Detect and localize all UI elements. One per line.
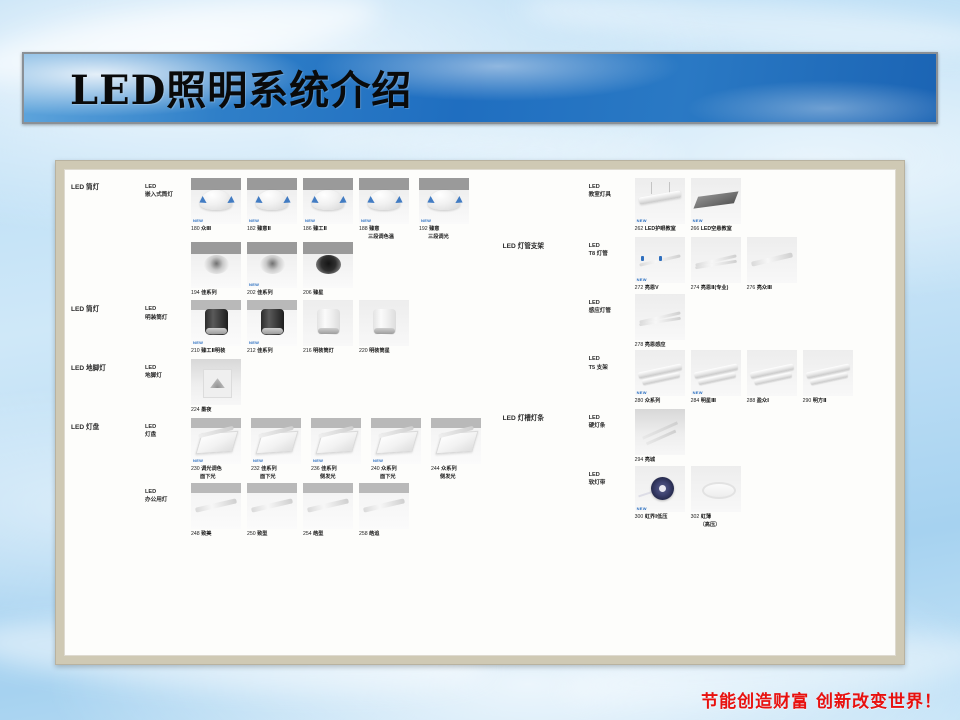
family-label-line1: LED — [589, 299, 635, 307]
product-code: 290 — [803, 398, 813, 404]
product-caption: 274 亮恩Ⅱ(专业) — [691, 285, 743, 293]
family-list: LED明装筒灯NEW210 臻工Ⅱ明装NEW212 佳系列216 明装筒灯220… — [145, 300, 493, 357]
product-caption: 202 佳系列 — [247, 290, 299, 298]
product-family: LED嵌入式筒灯NEW180 众ⅢNEW182 臻意ⅡNEW186 臻工ⅡNEW… — [145, 178, 493, 297]
new-badge: NEW — [637, 277, 647, 282]
family-list: LED灯盘NEW230 调光调色面下光NEW232 佳系列面下光NEW236 佳… — [145, 418, 493, 539]
product-name: 臻意 — [429, 226, 439, 232]
product-code: 212 — [247, 348, 257, 354]
product-item[interactable]: 248 致美 — [191, 483, 243, 539]
product-item[interactable]: NEW212 佳系列 — [247, 300, 299, 356]
product-item[interactable]: NEW192 臻意三段调光 — [419, 178, 475, 242]
product-caption: 278 亮恩感应 — [635, 342, 687, 350]
product-name: 明方Ⅱ — [813, 398, 827, 404]
product-thumbnail: NEW — [251, 418, 301, 464]
family-label-line1: LED — [145, 488, 191, 496]
product-caption: 272 亮恩V — [635, 285, 687, 293]
product-subname: （高压） — [691, 522, 747, 530]
new-badge: NEW — [637, 506, 647, 511]
product-name: 虹薄 — [701, 514, 711, 520]
product-caption: 248 致美 — [191, 531, 243, 539]
product-row: NEW262 LED护眼教室NEW266 LED空悬教室 — [635, 178, 747, 234]
family-label-line2: 软灯带 — [589, 479, 635, 487]
product-item[interactable]: NEW262 LED护眼教室 — [635, 178, 687, 234]
product-code: 232 — [251, 466, 261, 472]
product-thumbnail — [635, 409, 685, 455]
new-badge: NEW — [373, 458, 383, 463]
product-name: 墨夜 — [201, 407, 211, 413]
product-caption: 302 虹薄（高压） — [691, 514, 747, 530]
product-caption: 300 虹界Ⅰ低压 — [635, 514, 687, 522]
product-code: 182 — [247, 226, 257, 232]
group-title: LED 灯管支架 — [503, 237, 589, 252]
family-rows: NEW262 LED护眼教室NEW266 LED空悬教室 — [635, 178, 747, 234]
family-rows: NEW210 臻工Ⅱ明装NEW212 佳系列216 明装筒灯220 明装筒星 — [191, 300, 415, 356]
catalog-left-column: LED 筒灯LED嵌入式筒灯NEW180 众ⅢNEW182 臻意ⅡNEW186 … — [65, 170, 497, 655]
product-caption: 254 皓型 — [303, 531, 355, 539]
product-family: LED明装筒灯NEW210 臻工Ⅱ明装NEW212 佳系列216 明装筒灯220… — [145, 300, 493, 356]
family-label-line2: T8 灯管 — [589, 250, 635, 258]
product-code: 254 — [303, 531, 313, 537]
family-label: LEDT8 灯管 — [589, 237, 635, 258]
group-title: LED 地脚灯 — [71, 359, 145, 374]
product-item[interactable]: NEW236 佳系列侧发光 — [311, 418, 367, 482]
new-badge: NEW — [249, 218, 259, 223]
product-code: 180 — [191, 226, 201, 232]
family-list: LED教室灯具NEW262 LED护眼教室NEW266 LED空悬教室 — [589, 178, 891, 235]
product-thumbnail — [191, 359, 241, 405]
product-thumbnail: NEW — [247, 242, 297, 288]
product-thumbnail — [635, 294, 685, 340]
product-code: 194 — [191, 290, 201, 296]
product-name: 佳系列 — [257, 290, 273, 296]
product-caption: 240 众系列面下光 — [371, 466, 427, 482]
product-item[interactable]: NEW202 佳系列 — [247, 242, 299, 298]
product-name: 皓追 — [369, 531, 379, 537]
new-badge: NEW — [693, 390, 703, 395]
product-thumbnail: NEW — [691, 178, 741, 224]
product-name: 明星Ⅲ — [701, 398, 716, 404]
new-badge: NEW — [193, 458, 203, 463]
family-label-line2: 感应灯管 — [589, 307, 635, 315]
family-list: LED嵌入式筒灯NEW180 众ⅢNEW182 臻意ⅡNEW186 臻工ⅡNEW… — [145, 178, 493, 298]
family-label: LED明装筒灯 — [145, 300, 191, 321]
family-label-line2: 明装筒灯 — [145, 314, 191, 322]
family-label-line1: LED — [145, 305, 191, 313]
product-item[interactable]: NEW240 众系列面下光 — [371, 418, 427, 482]
family-rows: NEW272 亮恩V274 亮恩Ⅱ(专业)276 亮众Ⅲ — [635, 237, 803, 293]
family-label-line1: LED — [589, 355, 635, 363]
product-caption: 290 明方Ⅱ — [803, 398, 855, 406]
product-code: 258 — [359, 531, 369, 537]
product-thumbnail: NEW — [635, 178, 685, 224]
product-row: NEW230 调光调色面下光NEW232 佳系列面下光NEW236 佳系列侧发光… — [191, 418, 491, 482]
product-name: LED空悬教室 — [701, 226, 732, 232]
family-label-line2: 地脚灯 — [145, 372, 191, 380]
product-row: 278 亮恩感应 — [635, 294, 691, 350]
product-item[interactable]: 290 明方Ⅱ — [803, 350, 855, 406]
product-family: LED灯盘NEW230 调光调色面下光NEW232 佳系列面下光NEW236 佳… — [145, 418, 493, 482]
family-label-line1: LED — [589, 183, 635, 191]
product-thumbnail: NEW — [635, 350, 685, 396]
product-caption: 276 亮众Ⅲ — [747, 285, 799, 293]
product-caption: 280 众系列 — [635, 398, 687, 406]
family-label: LEDT5 支架 — [589, 350, 635, 371]
product-item[interactable]: NEW300 虹界Ⅰ低压 — [635, 466, 687, 530]
product-item[interactable]: 276 亮众Ⅲ — [747, 237, 799, 293]
product-group: LED 灯盘LED灯盘NEW230 调光调色面下光NEW232 佳系列面下光NE… — [71, 418, 493, 539]
product-thumbnail: NEW — [191, 178, 241, 224]
product-group: LED 地脚灯LED地脚灯224 墨夜 — [71, 359, 493, 416]
product-thumbnail: NEW — [691, 350, 741, 396]
family-label: LED办公用灯 — [145, 483, 191, 504]
catalog-columns: LED 筒灯LED嵌入式筒灯NEW180 众ⅢNEW182 臻意ⅡNEW186 … — [65, 170, 895, 655]
product-thumbnail: NEW — [247, 300, 297, 346]
product-code: 280 — [635, 398, 645, 404]
new-badge: NEW — [305, 218, 315, 223]
product-name: 致型 — [257, 531, 267, 537]
product-code: 230 — [191, 466, 201, 472]
product-thumbnail — [803, 350, 853, 396]
product-thumbnail — [747, 350, 797, 396]
product-name: 臻工Ⅱ明装 — [201, 348, 225, 354]
group-title: LED 灯盘 — [71, 418, 145, 433]
product-caption: 206 臻星 — [303, 290, 355, 298]
product-group: LED 灯槽灯条LED硬灯条294 亮城LED软灯带NEW300 虹界Ⅰ低压30… — [503, 409, 891, 530]
product-family: LED硬灯条294 亮城 — [589, 409, 891, 465]
family-label: LED感应灯管 — [589, 294, 635, 315]
product-item[interactable]: NEW232 佳系列面下光 — [251, 418, 307, 482]
product-subname: 三段调光 — [419, 234, 475, 242]
product-name: 众Ⅲ — [201, 226, 211, 232]
product-name: LED护眼教室 — [645, 226, 676, 232]
product-name: 虹界Ⅰ低压 — [645, 514, 668, 520]
family-label: LED教室灯具 — [589, 178, 635, 199]
product-item[interactable]: NEW186 臻工Ⅱ — [303, 178, 355, 242]
family-label-line2: 硬灯条 — [589, 422, 635, 430]
product-code: 248 — [191, 531, 201, 537]
family-rows: NEW230 调光调色面下光NEW232 佳系列面下光NEW236 佳系列侧发光… — [191, 418, 491, 482]
product-code: 244 — [431, 466, 441, 472]
product-thumbnail — [191, 483, 241, 529]
product-item[interactable]: NEW272 亮恩V — [635, 237, 687, 293]
product-name: 佳系列 — [201, 290, 217, 296]
family-rows: 278 亮恩感应 — [635, 294, 691, 350]
product-item[interactable]: 244 众系列侧发光 — [431, 418, 487, 482]
product-row: 224 墨夜 — [191, 359, 247, 415]
product-caption: 192 臻意三段调光 — [419, 226, 475, 242]
new-badge: NEW — [193, 340, 203, 345]
family-label-line1: LED — [589, 414, 635, 422]
product-subname: 面下光 — [371, 474, 427, 482]
product-caption: 258 皓追 — [359, 531, 411, 539]
product-thumbnail: NEW — [635, 237, 685, 283]
new-badge: NEW — [193, 218, 203, 223]
new-badge: NEW — [361, 218, 371, 223]
product-thumbnail: NEW — [311, 418, 361, 464]
product-item[interactable]: NEW280 众系列 — [635, 350, 687, 406]
product-code: 188 — [359, 226, 369, 232]
product-code: 216 — [303, 348, 313, 354]
family-label-line1: LED — [145, 364, 191, 372]
product-name: 明装筒星 — [369, 348, 390, 354]
product-thumbnail — [247, 483, 297, 529]
product-code: 294 — [635, 457, 645, 463]
family-label-line1: LED — [589, 242, 635, 250]
product-row: NEW280 众系列NEW284 明星Ⅲ288 盈众Ⅰ290 明方Ⅱ — [635, 350, 859, 406]
product-code: 220 — [359, 348, 369, 354]
product-code: 192 — [419, 226, 429, 232]
product-caption: 216 明装筒灯 — [303, 348, 355, 356]
product-item[interactable]: 254 皓型 — [303, 483, 355, 539]
product-code: 250 — [247, 531, 257, 537]
product-name: 亮恩Ⅱ(专业) — [701, 285, 729, 291]
product-subname: 面下光 — [251, 474, 307, 482]
product-code: 266 — [691, 226, 701, 232]
product-group: LED教室灯具NEW262 LED护眼教室NEW266 LED空悬教室 — [503, 178, 891, 235]
family-rows: 294 亮城 — [635, 409, 691, 465]
product-caption: 210 臻工Ⅱ明装 — [191, 348, 243, 356]
family-label-line2: 嵌入式筒灯 — [145, 191, 191, 199]
product-item[interactable]: NEW210 臻工Ⅱ明装 — [191, 300, 243, 356]
product-thumbnail — [303, 242, 353, 288]
product-item[interactable]: 294 亮城 — [635, 409, 687, 465]
product-group: LED 灯管支架LEDT8 灯管NEW272 亮恩V274 亮恩Ⅱ(专业)276… — [503, 237, 891, 407]
family-rows: NEW300 虹界Ⅰ低压302 虹薄（高压） — [635, 466, 751, 530]
product-name: 佳系列 — [321, 466, 337, 472]
product-caption: 262 LED护眼教室 — [635, 226, 687, 234]
family-label-line1: LED — [145, 183, 191, 191]
product-name: 亮恩感应 — [645, 342, 666, 348]
product-code: 272 — [635, 285, 645, 291]
family-label-line2: 办公用灯 — [145, 496, 191, 504]
product-name: 众系列 — [645, 398, 661, 404]
product-name: 亮恩V — [645, 285, 659, 291]
title-banner: LED照明系统介绍 — [22, 52, 938, 124]
product-code: 240 — [371, 466, 381, 472]
product-caption: 244 众系列侧发光 — [431, 466, 487, 482]
product-caption: 236 佳系列侧发光 — [311, 466, 367, 482]
product-name: 亮众Ⅲ — [757, 285, 772, 291]
family-rows: NEW280 众系列NEW284 明星Ⅲ288 盈众Ⅰ290 明方Ⅱ — [635, 350, 859, 406]
new-badge: NEW — [253, 458, 263, 463]
product-row: 194 佳系列NEW202 佳系列206 臻星 — [191, 242, 479, 298]
slogan-text: 节能创造财富 创新改变世界！ — [701, 687, 942, 712]
product-name: 臻星 — [313, 290, 323, 296]
product-subname: 面下光 — [191, 474, 247, 482]
product-item[interactable]: 206 臻星 — [303, 242, 355, 298]
product-caption: 180 众Ⅲ — [191, 226, 243, 234]
product-code: 300 — [635, 514, 645, 520]
page-title: LED照明系统介绍 — [70, 58, 412, 116]
product-row: NEW300 虹界Ⅰ低压302 虹薄（高压） — [635, 466, 751, 530]
product-caption: 250 致型 — [247, 531, 299, 539]
product-code: 288 — [747, 398, 757, 404]
family-label: LED软灯带 — [589, 466, 635, 487]
group-title: LED 灯槽灯条 — [503, 409, 589, 424]
group-title: LED 筒灯 — [71, 178, 145, 193]
new-badge: NEW — [313, 458, 323, 463]
product-family: LEDT8 灯管NEW272 亮恩V274 亮恩Ⅱ(专业)276 亮众Ⅲ — [589, 237, 891, 293]
family-rows: 224 墨夜 — [191, 359, 247, 415]
product-row: NEW272 亮恩V274 亮恩Ⅱ(专业)276 亮众Ⅲ — [635, 237, 803, 293]
product-name: 明装筒灯 — [313, 348, 334, 354]
product-name: 亮城 — [645, 457, 655, 463]
product-name: 众系列 — [441, 466, 457, 472]
product-family: LEDT5 支架NEW280 众系列NEW284 明星Ⅲ288 盈众Ⅰ290 明… — [589, 350, 891, 406]
product-row: NEW210 臻工Ⅱ明装NEW212 佳系列216 明装筒灯220 明装筒星 — [191, 300, 415, 356]
product-thumbnail — [303, 300, 353, 346]
product-family: LED办公用灯248 致美250 致型254 皓型258 皓追 — [145, 483, 493, 539]
product-thumbnail: NEW — [419, 178, 469, 224]
product-family: LED教室灯具NEW262 LED护眼教室NEW266 LED空悬教室 — [589, 178, 891, 234]
product-item[interactable]: 216 明装筒灯 — [303, 300, 355, 356]
product-name: 臻意Ⅱ — [257, 226, 271, 232]
product-subname: 三段调色温 — [359, 234, 415, 242]
family-rows: 248 致美250 致型254 皓型258 皓追 — [191, 483, 415, 539]
product-item[interactable]: 194 佳系列 — [191, 242, 243, 298]
product-code: 302 — [691, 514, 701, 520]
family-list: LED地脚灯224 墨夜 — [145, 359, 493, 416]
group-title — [503, 178, 589, 184]
product-family: LED软灯带NEW300 虹界Ⅰ低压302 虹薄（高压） — [589, 466, 891, 530]
product-thumbnail — [359, 300, 409, 346]
product-thumbnail: NEW — [635, 466, 685, 512]
new-badge: NEW — [637, 218, 647, 223]
product-thumbnail: NEW — [191, 418, 241, 464]
product-item[interactable]: NEW182 臻意Ⅱ — [247, 178, 299, 242]
product-group: LED 筒灯LED嵌入式筒灯NEW180 众ⅢNEW182 臻意ⅡNEW186 … — [71, 178, 493, 298]
family-label: LED硬灯条 — [589, 409, 635, 430]
product-caption: 188 臻意三段调色温 — [359, 226, 415, 242]
product-name: 佳系列 — [257, 348, 273, 354]
product-caption: 212 佳系列 — [247, 348, 299, 356]
product-caption: 194 佳系列 — [191, 290, 243, 298]
new-badge: NEW — [249, 282, 259, 287]
product-item[interactable]: NEW284 明星Ⅲ — [691, 350, 743, 406]
group-title: LED 筒灯 — [71, 300, 145, 315]
product-code: 274 — [691, 285, 701, 291]
product-thumbnail — [191, 242, 241, 288]
product-caption: 288 盈众Ⅰ — [747, 398, 799, 406]
new-badge: NEW — [421, 218, 431, 223]
product-caption: 220 明装筒星 — [359, 348, 411, 356]
product-item[interactable]: 224 墨夜 — [191, 359, 243, 415]
new-badge: NEW — [693, 218, 703, 223]
product-thumbnail — [747, 237, 797, 283]
family-list: LED硬灯条294 亮城LED软灯带NEW300 虹界Ⅰ低压302 虹薄（高压） — [589, 409, 891, 530]
product-code: 278 — [635, 342, 645, 348]
product-caption: 294 亮城 — [635, 457, 687, 465]
product-thumbnail: NEW — [371, 418, 421, 464]
product-name: 致美 — [201, 531, 211, 537]
product-code: 262 — [635, 226, 645, 232]
product-caption: 266 LED空悬教室 — [691, 226, 743, 234]
product-name: 臻工Ⅱ — [313, 226, 327, 232]
product-subname: 侧发光 — [431, 474, 487, 482]
product-thumbnail: NEW — [303, 178, 353, 224]
product-caption: 186 臻工Ⅱ — [303, 226, 355, 234]
product-code: 276 — [747, 285, 757, 291]
catalog-right-column: LED教室灯具NEW262 LED护眼教室NEW266 LED空悬教室LED 灯… — [497, 170, 895, 655]
family-label: LED地脚灯 — [145, 359, 191, 380]
product-thumbnail — [691, 237, 741, 283]
product-item[interactable]: NEW230 调光调色面下光 — [191, 418, 247, 482]
product-row: 294 亮城 — [635, 409, 691, 465]
product-item[interactable]: 278 亮恩感应 — [635, 294, 687, 350]
catalog-board: LED 筒灯LED嵌入式筒灯NEW180 众ⅢNEW182 臻意ⅡNEW186 … — [55, 160, 905, 665]
product-caption: 232 佳系列面下光 — [251, 466, 307, 482]
product-item[interactable]: 220 明装筒星 — [359, 300, 411, 356]
product-item[interactable]: NEW180 众Ⅲ — [191, 178, 243, 242]
product-code: 206 — [303, 290, 313, 296]
product-item[interactable]: 258 皓追 — [359, 483, 411, 539]
product-thumbnail: NEW — [191, 300, 241, 346]
product-thumbnail: NEW — [247, 178, 297, 224]
family-label-line1: LED — [145, 423, 191, 431]
product-item[interactable]: 288 盈众Ⅰ — [747, 350, 799, 406]
product-item[interactable]: NEW266 LED空悬教室 — [691, 178, 743, 234]
product-code: 224 — [191, 407, 201, 413]
family-list: LEDT8 灯管NEW272 亮恩V274 亮恩Ⅱ(专业)276 亮众ⅢLED感… — [589, 237, 891, 407]
product-group: LED 筒灯LED明装筒灯NEW210 臻工Ⅱ明装NEW212 佳系列216 明… — [71, 300, 493, 357]
product-name: 皓型 — [313, 531, 323, 537]
product-row: 248 致美250 致型254 皓型258 皓追 — [191, 483, 415, 539]
family-label-line2: T5 支架 — [589, 364, 635, 372]
product-family: LED地脚灯224 墨夜 — [145, 359, 493, 415]
product-thumbnail: NEW — [359, 178, 409, 224]
family-label-line2: 教室灯具 — [589, 191, 635, 199]
product-family: LED感应灯管278 亮恩感应 — [589, 294, 891, 350]
product-code: 202 — [247, 290, 257, 296]
product-item[interactable]: 274 亮恩Ⅱ(专业) — [691, 237, 743, 293]
family-label-line1: LED — [589, 471, 635, 479]
product-name: 佳系列 — [261, 466, 277, 472]
family-rows: NEW180 众ⅢNEW182 臻意ⅡNEW186 臻工ⅡNEW188 臻意三段… — [191, 178, 479, 297]
product-thumbnail — [303, 483, 353, 529]
product-caption: 230 调光调色面下光 — [191, 466, 247, 482]
product-name: 众系列 — [381, 466, 397, 472]
product-item[interactable]: 302 虹薄（高压） — [691, 466, 747, 530]
product-code: 284 — [691, 398, 701, 404]
product-code: 186 — [303, 226, 313, 232]
family-label: LED灯盘 — [145, 418, 191, 439]
family-label-line2: 灯盘 — [145, 431, 191, 439]
product-row: NEW180 众ⅢNEW182 臻意ⅡNEW186 臻工ⅡNEW188 臻意三段… — [191, 178, 479, 242]
new-badge: NEW — [637, 390, 647, 395]
product-thumbnail — [691, 466, 741, 512]
new-badge: NEW — [249, 340, 259, 345]
product-item[interactable]: 250 致型 — [247, 483, 299, 539]
product-caption: 182 臻意Ⅱ — [247, 226, 299, 234]
catalog-board-inner: LED 筒灯LED嵌入式筒灯NEW180 众ⅢNEW182 臻意ⅡNEW186 … — [64, 169, 896, 656]
product-code: 210 — [191, 348, 201, 354]
product-name: 臻意 — [369, 226, 379, 232]
product-thumbnail — [431, 418, 481, 464]
product-item[interactable]: NEW188 臻意三段调色温 — [359, 178, 415, 242]
product-thumbnail — [359, 483, 409, 529]
family-label: LED嵌入式筒灯 — [145, 178, 191, 199]
product-name: 调光调色 — [201, 466, 222, 472]
product-subname: 侧发光 — [311, 474, 367, 482]
product-caption: 284 明星Ⅲ — [691, 398, 743, 406]
product-caption: 224 墨夜 — [191, 407, 243, 415]
product-name: 盈众Ⅰ — [757, 398, 769, 404]
product-code: 236 — [311, 466, 321, 472]
